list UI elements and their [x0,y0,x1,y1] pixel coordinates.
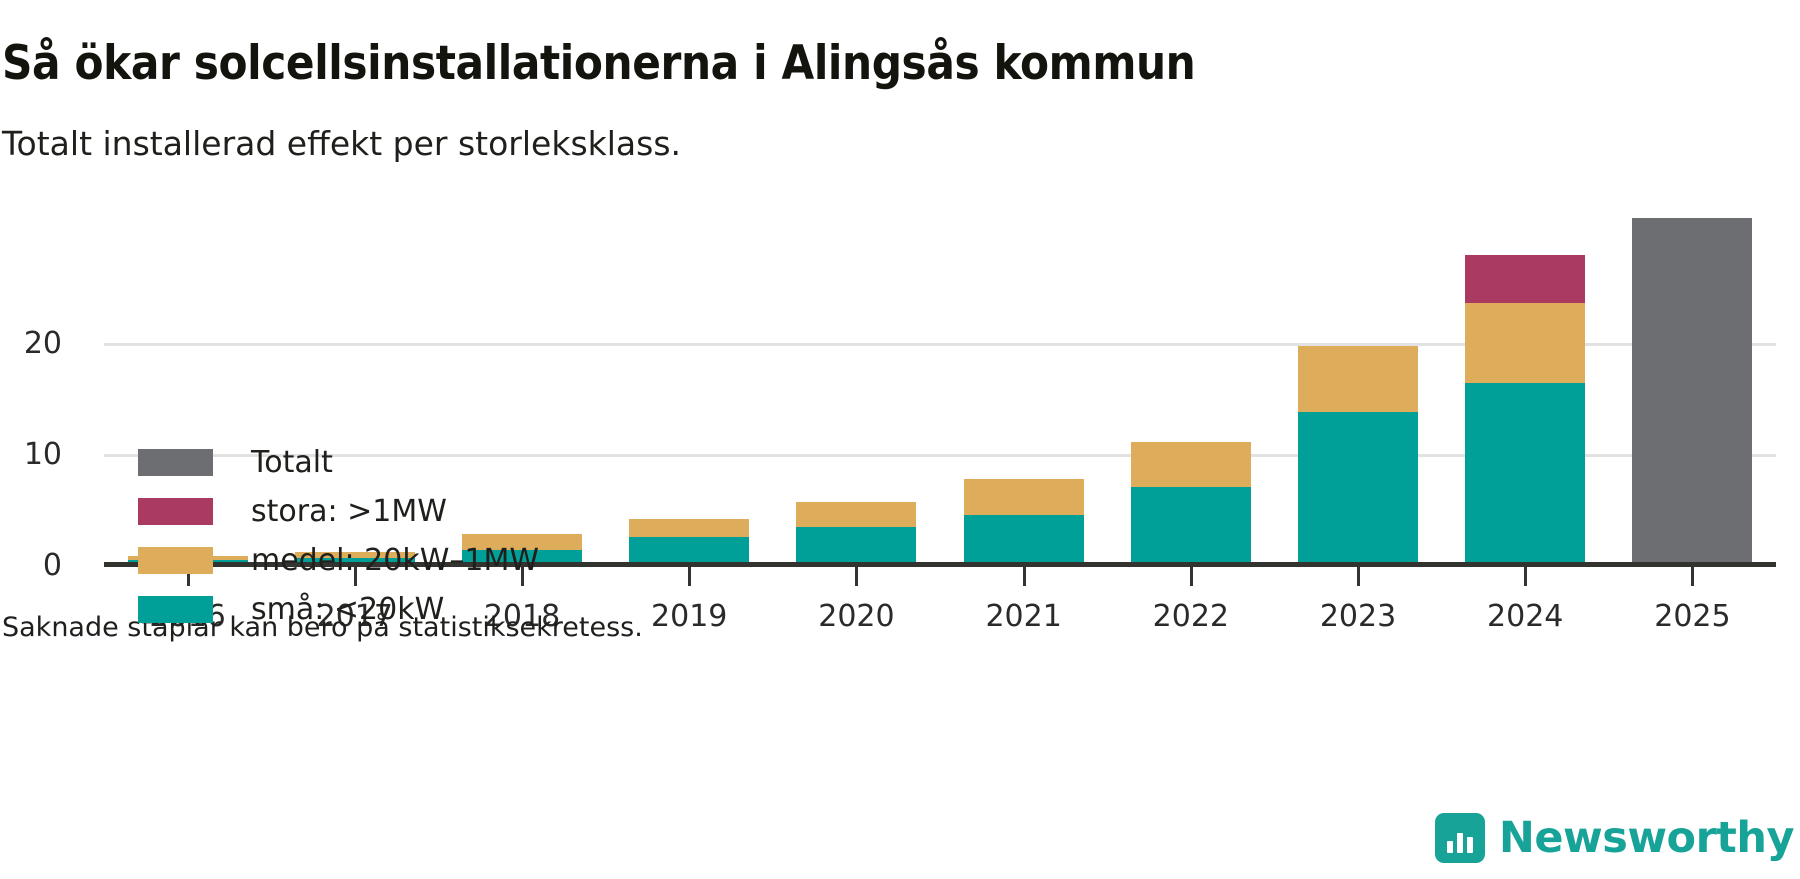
chart-legend: Totalt stora: >1MW medel: 20kW–1MW små: … [138,438,539,634]
bar-2023[interactable]: 2023 [1274,200,1441,564]
bar-chart-icon [1435,813,1485,863]
bar-2025[interactable]: 2025 [1609,200,1776,564]
bar-segment-medel [629,519,749,537]
legend-item-stora[interactable]: stora: >1MW [138,487,539,536]
legend-swatch-stora [138,498,213,525]
bar-segment-sma [629,537,749,564]
legend-label-stora: stora: >1MW [251,497,447,527]
y-axis-tick-0: 0 [6,551,62,581]
y-axis-tick-10: 10 [6,440,62,470]
bar-stack [1632,218,1752,564]
y-axis-tick-20: 20 [6,329,62,359]
bar-segment-sma [1131,487,1251,564]
bar-segment-sma [796,527,916,564]
x-axis-tick-mark [1190,566,1193,586]
bar-2020[interactable]: 2020 [773,200,940,564]
legend-swatch-sma [138,596,213,623]
x-axis-label-2022: 2022 [1107,599,1274,634]
bar-segment-medel [964,479,1084,515]
bar-segment-sma [1465,383,1585,564]
bar-stack [1131,442,1251,564]
bar-segment-medel [1465,303,1585,383]
x-axis-tick-mark [688,566,691,586]
bar-segment-stora [1465,255,1585,303]
bar-segment-medel [1131,442,1251,487]
x-axis-label-2020: 2020 [773,599,940,634]
chart-page: Så ökar solcellsinstallationerna i Aling… [0,0,1800,879]
bar-2019[interactable]: 2019 [606,200,773,564]
bar-chart: 20 10 0 20162017201820192020202120222023… [0,200,1800,600]
x-axis-tick-mark [1524,566,1527,586]
bar-stack [1465,255,1585,564]
legend-swatch-totalt [138,449,213,476]
legend-label-sma: små: <20kW [251,595,444,625]
x-axis-tick-mark [1023,566,1026,586]
x-axis-label-2023: 2023 [1274,599,1441,634]
bar-2024[interactable]: 2024 [1442,200,1609,564]
bar-2021[interactable]: 2021 [940,200,1107,564]
legend-item-medel[interactable]: medel: 20kW–1MW [138,536,539,585]
bar-stack [1298,346,1418,564]
legend-item-sma[interactable]: små: <20kW [138,585,539,634]
x-axis-label-2024: 2024 [1442,599,1609,634]
bar-2022[interactable]: 2022 [1107,200,1274,564]
x-axis-label-2021: 2021 [940,599,1107,634]
bar-stack [964,479,1084,564]
bar-segment-medel [796,502,916,527]
page-subtitle: Totalt installerad effekt per storlekskl… [2,122,681,166]
legend-swatch-medel [138,547,213,574]
x-axis-label-2025: 2025 [1609,599,1776,634]
bar-segment-medel [1298,346,1418,412]
newsworthy-logo[interactable]: Newsworthy [1435,813,1794,863]
x-axis-tick-mark [1691,566,1694,586]
legend-item-totalt[interactable]: Totalt [138,438,539,487]
legend-label-medel: medel: 20kW–1MW [251,546,539,576]
x-axis-tick-mark [1357,566,1360,586]
bar-segment-sma [1298,412,1418,564]
brand-name: Newsworthy [1499,817,1794,860]
x-axis-tick-mark [855,566,858,586]
bar-segment-totalt [1632,218,1752,564]
legend-label-totalt: Totalt [251,448,333,478]
bar-segment-sma [964,515,1084,564]
page-title: Så ökar solcellsinstallationerna i Aling… [2,35,1195,93]
bar-stack [629,519,749,564]
bar-stack [796,502,916,564]
